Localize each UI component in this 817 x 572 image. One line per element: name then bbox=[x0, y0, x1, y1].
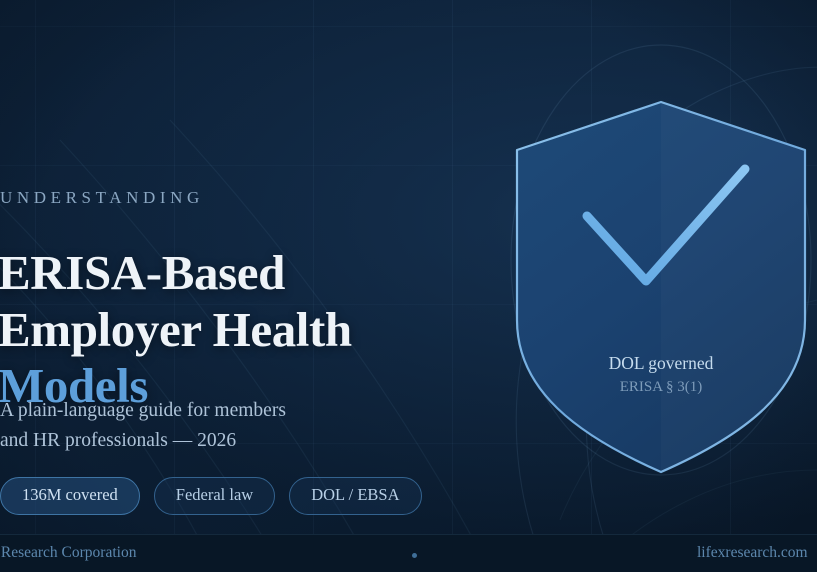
hero-content: UNDERSTANDING ERISA-Based Employer Healt… bbox=[0, 0, 560, 535]
slide-root: DOL governed ERISA § 3(1) UNDERSTANDING … bbox=[0, 0, 817, 572]
subtitle: A plain-language guide for members and H… bbox=[0, 396, 430, 455]
eyebrow-label: UNDERSTANDING bbox=[0, 188, 204, 208]
footer-website: lifexresearch.com bbox=[697, 544, 808, 562]
badge-federal-law[interactable]: Federal law bbox=[154, 477, 275, 515]
subtitle-line-1: A plain-language guide for members bbox=[0, 400, 286, 421]
page-title: ERISA-Based Employer Health Models bbox=[0, 245, 558, 415]
footer-separator-dot bbox=[412, 553, 417, 558]
badge-covered[interactable]: 136M covered bbox=[0, 477, 140, 515]
subtitle-line-2: and HR professionals — 2026 bbox=[0, 430, 236, 451]
footer-bar: LifeX Research Corporation lifexresearch… bbox=[0, 534, 817, 572]
title-line-2: Employer Health bbox=[0, 302, 352, 357]
badge-dol-ebsa[interactable]: DOL / EBSA bbox=[289, 477, 421, 515]
footer-organization: LifeX Research Corporation bbox=[0, 544, 136, 562]
title-line-1: ERISA-Based bbox=[0, 245, 285, 300]
badge-row: 136M covered Federal law DOL / EBSA bbox=[0, 477, 422, 515]
